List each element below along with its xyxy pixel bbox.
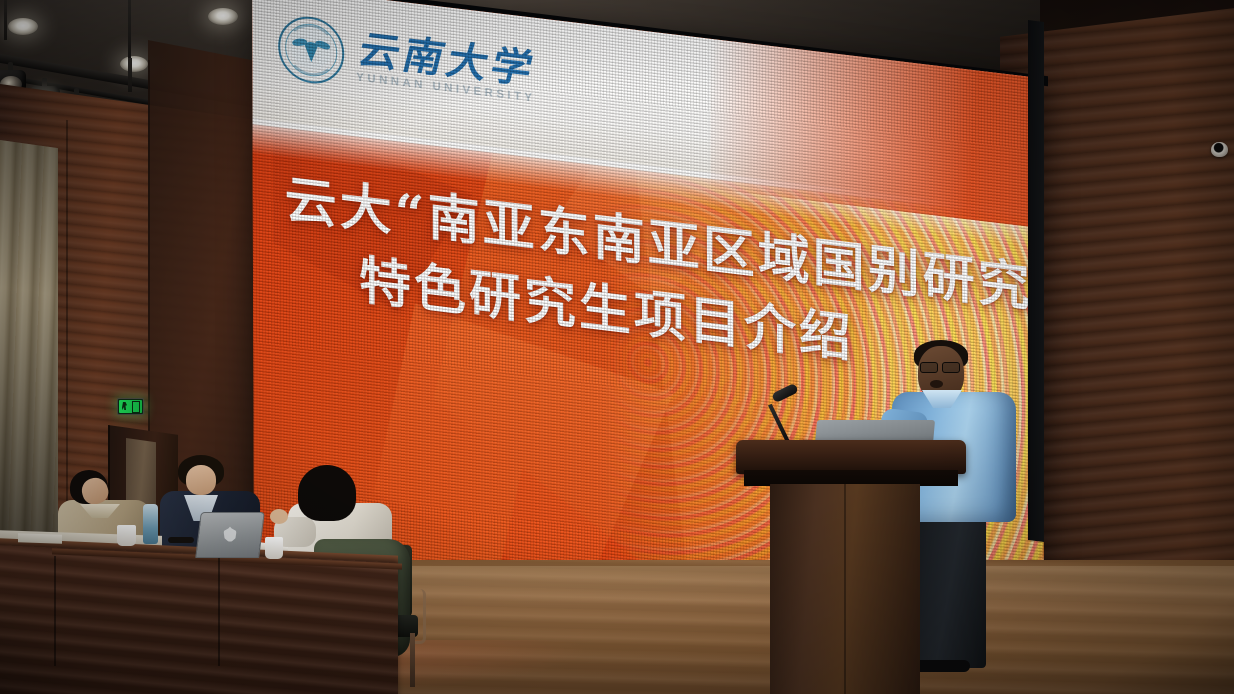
window-curtain	[0, 140, 58, 568]
document-paper[interactable]	[18, 533, 62, 544]
panelist-right-hand	[270, 509, 288, 524]
downlight-3	[208, 8, 238, 25]
emergency-exit-sign	[117, 398, 144, 415]
university-crest-icon	[278, 13, 344, 87]
paper-cup-2[interactable]	[265, 537, 283, 559]
podium-top	[736, 440, 966, 474]
table-seam	[218, 556, 220, 666]
thermos-bottle[interactable]	[143, 504, 158, 544]
downlight-2	[120, 56, 148, 72]
presenter-eyeglasses-icon	[920, 362, 960, 371]
screen-bezel-right	[1028, 20, 1044, 542]
eyeglasses[interactable]	[168, 537, 194, 543]
macbook-laptop[interactable]	[198, 512, 262, 558]
podium-column	[770, 484, 920, 694]
dome-camera-icon	[1211, 142, 1228, 157]
table-seam	[54, 556, 56, 666]
panelist-center-head	[186, 465, 216, 495]
paper-cup-1[interactable]	[117, 525, 136, 546]
presenter-mouth	[930, 380, 943, 388]
truss-hanger-1	[4, 0, 7, 40]
truss-hanger-2	[128, 0, 131, 60]
downlight-1	[8, 18, 38, 35]
lecture-hall-photo: 云南大学 YUNNAN UNIVERSITY YUNNAN DAXUE 云大“南…	[0, 0, 1234, 694]
spotlight-arm	[128, 58, 132, 92]
panel-table	[0, 545, 398, 694]
wooden-podium	[736, 440, 966, 694]
panelist-right-hair	[298, 465, 356, 521]
chair-leg	[410, 633, 415, 687]
